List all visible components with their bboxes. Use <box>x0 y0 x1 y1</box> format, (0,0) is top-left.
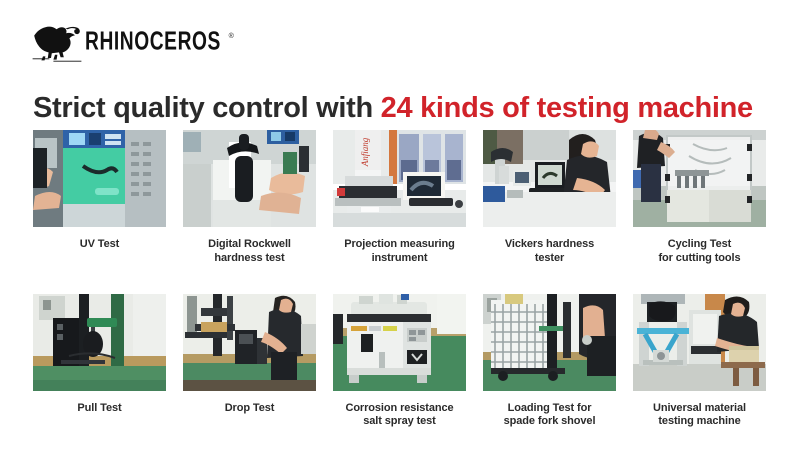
rhinoceros-icon <box>31 22 83 62</box>
cell-caption: UV Test <box>80 238 119 252</box>
cell-caption: Vickers hardnesstester <box>505 238 594 266</box>
grid-cell[interactable]: Pull Test <box>33 294 166 430</box>
grid-cell[interactable]: Universal materialtesting machine <box>633 294 766 430</box>
grid-cell[interactable]: Vickers hardnesstester <box>483 130 616 266</box>
grid-cell[interactable]: Digital Rockwellhardness test <box>183 130 316 266</box>
cell-caption: Loading Test forspade fork shovel <box>504 402 596 430</box>
testing-machine-grid: UV Test <box>33 130 768 429</box>
uv-test-photo[interactable] <box>33 130 166 227</box>
grid-row: UV Test <box>33 130 768 266</box>
digital-rockwell-hardness-test-photo[interactable] <box>183 130 316 227</box>
cell-caption: Pull Test <box>77 402 121 416</box>
grid-cell[interactable]: Corrosion resistancesalt spray test <box>333 294 466 430</box>
page-title: Strict quality control with 24 kinds of … <box>33 93 753 125</box>
page-title-accent: 24 kinds of testing machine <box>381 92 753 124</box>
grid-row: Pull Test <box>33 294 768 430</box>
drop-test-photo[interactable] <box>183 294 316 391</box>
svg-text:Anfiang: Anfiang <box>360 137 370 167</box>
brand-name: RHINOCEROS <box>85 29 221 55</box>
grid-cell[interactable]: Cycling Testfor cutting tools <box>633 130 766 266</box>
loading-test-for-spade-fork-shovel-photo[interactable] <box>483 294 616 391</box>
grid-cell[interactable]: Loading Test forspade fork shovel <box>483 294 616 430</box>
cell-caption: Digital Rockwellhardness test <box>208 238 291 266</box>
cell-caption: Corrosion resistancesalt spray test <box>345 402 453 430</box>
vickers-hardness-tester-photo[interactable] <box>483 130 616 227</box>
grid-cell[interactable]: Drop Test <box>183 294 316 430</box>
grid-cell[interactable]: UV Test <box>33 130 166 266</box>
cell-caption: Drop Test <box>225 402 275 416</box>
pull-test-photo[interactable] <box>33 294 166 391</box>
corrosion-resistance-salt-spray-test-photo[interactable] <box>333 294 466 391</box>
cell-caption: Projection measuringinstrument <box>344 238 454 266</box>
universal-material-testing-machine-photo[interactable] <box>633 294 766 391</box>
grid-cell[interactable]: Anfiang Projection measuringinstrument <box>333 130 466 266</box>
brand-logo: RHINOCEROS ® <box>31 20 234 64</box>
page-title-lead: Strict quality control with <box>33 92 381 124</box>
cell-caption: Cycling Testfor cutting tools <box>658 238 740 266</box>
registered-trademark-icon: ® <box>229 33 234 40</box>
projection-measuring-instrument-photo[interactable]: Anfiang <box>333 130 466 227</box>
cell-caption: Universal materialtesting machine <box>653 402 746 430</box>
cycling-test-for-cutting-tools-photo[interactable] <box>633 130 766 227</box>
